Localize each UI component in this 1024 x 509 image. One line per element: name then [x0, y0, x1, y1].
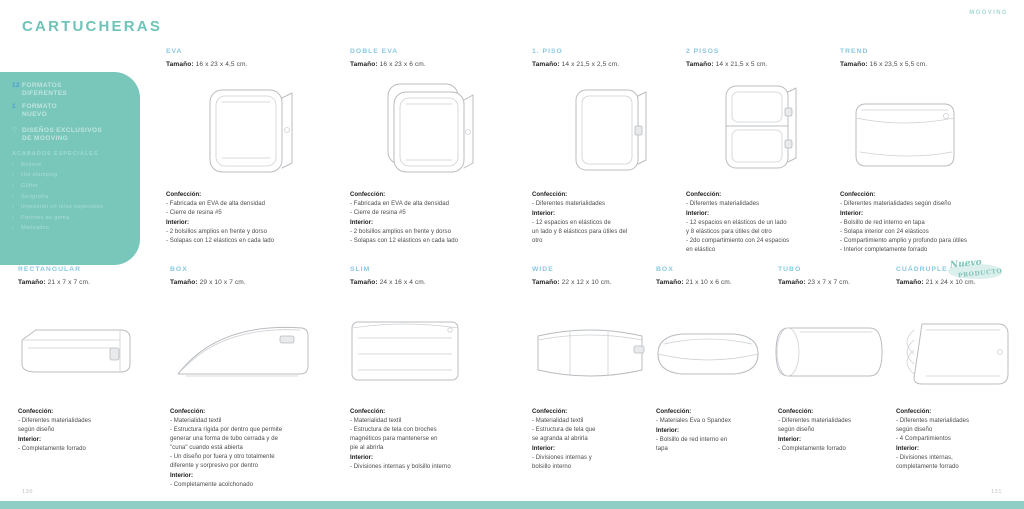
- confeccion-line: - Estructura rígida por dentro que permi…: [170, 426, 342, 435]
- interior-line: - Divisiones internas,: [896, 454, 1018, 463]
- confeccion-label: Confección:: [350, 191, 385, 198]
- page-number-left: 130: [22, 489, 33, 495]
- confeccion-line: - Estructura de tela que: [532, 426, 650, 435]
- size-label: Tamaño:: [170, 279, 198, 286]
- bullet-icon: ›: [12, 225, 21, 231]
- confeccion-line: según diseño: [778, 426, 896, 435]
- product-description-trend: Confección: - Diferentes materialidades …: [840, 190, 1020, 255]
- catalog-page: CARTUCHERAS MOOVING 12 FORMATOSDIFERENTE…: [0, 0, 1024, 509]
- confeccion-line: - Diferentes materialidades: [896, 417, 1018, 426]
- product-description-1-piso: Confección: - Diferentes materialidades …: [532, 190, 682, 246]
- product-image-eva: [196, 84, 306, 184]
- confeccion-line: - Materialidad textil: [350, 417, 515, 426]
- size-value: 29 x 10 x 7 cm.: [200, 279, 246, 286]
- interior-line: - Solapas con 12 elásticos en cada lado: [350, 237, 530, 246]
- product-description-tubo: Confección: - Diferentes materialidades …: [778, 407, 896, 454]
- size-label: Tamaño:: [778, 279, 806, 286]
- confeccion-line: - Fabricada en EVA de alta densidad: [166, 200, 346, 209]
- product-name: WIDE: [532, 266, 612, 273]
- feature-count-formatos: 12: [12, 82, 22, 90]
- accessories-title: ACABADOS ESPECIALES: [12, 151, 130, 157]
- product-size: Tamaño: 14 x 21,5 x 5 cm.: [686, 61, 768, 68]
- interior-line: - Bolsillo de red interno en: [656, 436, 774, 445]
- footer-bar: [0, 501, 1024, 509]
- product-size: Tamaño: 16 x 23,5 x 5,5 cm.: [840, 61, 927, 68]
- interior-line: - Bolsillo de red interno en tapa: [840, 219, 1020, 228]
- bullet-icon: ›: [12, 204, 21, 210]
- product-image-tubo: [770, 322, 888, 384]
- feature-highlight-formatos: 12 FORMATOSDIFERENTES: [12, 82, 130, 98]
- feature-text-formatos: FORMATOSDIFERENTES: [22, 82, 67, 98]
- size-label: Tamaño:: [350, 279, 378, 286]
- size-value: 16 x 23,5 x 5,5 cm.: [870, 61, 928, 68]
- confeccion-label: Confección:: [532, 191, 567, 198]
- product-image-2-pisos: [712, 82, 820, 182]
- confeccion-label: Confección:: [350, 408, 385, 415]
- accessory-item: ›Relieve: [12, 162, 130, 168]
- confeccion-line: pie al abrirla: [350, 444, 515, 453]
- size-value: 14 x 21,5 x 5 cm.: [716, 61, 768, 68]
- accessory-item: ›Glitter: [12, 183, 130, 189]
- size-value: 23 x 7 x 7 cm.: [808, 279, 850, 286]
- product-size: Tamaño: 16 x 23 x 4,5 cm.: [166, 61, 248, 68]
- product-name: TREND: [840, 48, 927, 55]
- interior-line: - Solapas con 12 elásticos en cada lado: [166, 237, 346, 246]
- interior-line: - 2 bolsillos amplios en frente y dorso: [350, 228, 530, 237]
- confeccion-label: Confección:: [686, 191, 721, 198]
- interior-line: - 2do compartimiento con 24 espacios: [686, 237, 838, 246]
- accessory-label: Relieve: [21, 162, 42, 168]
- product-size: Tamaño: 21 x 7 x 7 cm.: [18, 279, 90, 286]
- interior-label: Interior:: [896, 445, 919, 452]
- product-description-box-2: Confección: - Materiales Eva o Spandex I…: [656, 407, 774, 454]
- confeccion-line: - Materialidad textil: [532, 417, 650, 426]
- size-value: 21 x 7 x 7 cm.: [48, 279, 90, 286]
- accessory-label: Matizados: [21, 225, 49, 231]
- accessory-item: ›Impresión en telas especiales: [12, 204, 130, 210]
- interior-label: Interior:: [532, 445, 555, 452]
- product-description-cuadruple: Confección: - Diferentes materialidades …: [896, 407, 1018, 472]
- product-description-2-pisos: Confección: - Diferentes materialidades …: [686, 190, 838, 255]
- product-description-eva: Confección: - Fabricada en EVA de alta d…: [166, 190, 346, 246]
- product-image-box-2: [650, 326, 766, 382]
- interior-label: Interior:: [18, 436, 41, 443]
- accessory-label: Hot stamping: [21, 172, 58, 178]
- interior-line: - 12 espacios en elásticos de un lado: [686, 219, 838, 228]
- bullet-icon: ›: [12, 183, 21, 189]
- bullet-icon: ›: [12, 215, 21, 221]
- interior-line: - Solapa interior con 24 elásticos: [840, 228, 1020, 237]
- product-description-wide: Confección: - Materialidad textil - Estr…: [532, 407, 650, 472]
- size-label: Tamaño:: [532, 61, 560, 68]
- confeccion-label: Confección:: [170, 408, 205, 415]
- product-size: Tamaño: 16 x 23 x 6 cm.: [350, 61, 426, 68]
- interior-label: Interior:: [686, 210, 709, 217]
- size-label: Tamaño:: [18, 279, 46, 286]
- brand-logo: MOOVING: [969, 10, 1008, 16]
- confeccion-line: - Diferentes materialidades según diseño: [840, 200, 1020, 209]
- interior-line: - Divisiones internas y bolsillo interno: [350, 463, 515, 472]
- size-label: Tamaño:: [896, 279, 924, 286]
- confeccion-label: Confección:: [18, 408, 53, 415]
- size-value: 24 x 16 x 4 cm.: [380, 279, 426, 286]
- interior-label: Interior:: [656, 427, 679, 434]
- interior-line: un lado y 8 elásticos para útiles del: [532, 228, 682, 237]
- interior-line: - 2 bolsillos amplios en frente y dorso: [166, 228, 346, 237]
- accessory-label: Impresión en telas especiales: [21, 204, 103, 210]
- confeccion-label: Confección:: [656, 408, 691, 415]
- interior-line: - Completamente acolchonado: [170, 481, 342, 490]
- product-heading-doble-eva: DOBLE EVA Tamaño: 16 x 23 x 6 cm.: [350, 48, 426, 68]
- page-title: CARTUCHERAS: [22, 18, 162, 35]
- product-name: 1. PISO: [532, 48, 619, 55]
- product-heading-wide: WIDE Tamaño: 22 x 12 x 10 cm.: [532, 266, 612, 286]
- product-name: BOX: [170, 266, 246, 273]
- product-image-slim: [346, 316, 466, 388]
- confeccion-line: - Diferentes materialidades: [686, 200, 838, 209]
- interior-line: completamente forrado: [896, 463, 1018, 472]
- confeccion-line: según diseño: [18, 426, 148, 435]
- size-value: 16 x 23 x 4,5 cm.: [196, 61, 248, 68]
- accessory-item: ›Parches de goma: [12, 215, 130, 221]
- interior-line: en elástico: [686, 246, 838, 255]
- interior-label: Interior:: [166, 219, 189, 226]
- product-description-box-1: Confección: - Materialidad textil - Estr…: [170, 407, 342, 490]
- bullet-icon: ›: [12, 194, 21, 200]
- feature-text-nuevo: FORMATONUEVO: [22, 103, 57, 119]
- confeccion-label: Confección:: [840, 191, 875, 198]
- product-image-wide: [530, 320, 650, 386]
- confeccion-line: diferente y sorpresivo por dentro: [170, 462, 342, 471]
- bullet-icon: ›: [12, 172, 21, 178]
- product-name: DOBLE EVA: [350, 48, 426, 55]
- confeccion-line: - Fabricada en EVA de alta densidad: [350, 200, 530, 209]
- product-name: 2 PISOS: [686, 48, 768, 55]
- product-image-trend: [846, 92, 966, 178]
- confeccion-line: - Un diseño por fuera y otro totalmente: [170, 453, 342, 462]
- product-heading-trend: TREND Tamaño: 16 x 23,5 x 5,5 cm.: [840, 48, 927, 68]
- product-description-doble-eva: Confección: - Fabricada en EVA de alta d…: [350, 190, 530, 246]
- confeccion-label: Confección:: [166, 191, 201, 198]
- interior-line: bolsillo interno: [532, 463, 650, 472]
- product-name: BOX: [656, 266, 732, 273]
- accessory-label: Parches de goma: [21, 215, 69, 221]
- product-description-slim: Confección: - Materialidad textil - Estr…: [350, 407, 515, 472]
- page-number-right: 131: [991, 489, 1002, 495]
- confeccion-line: generar una forma de tubo cerrada y de: [170, 435, 342, 444]
- size-value: 14 x 21,5 x 2,5 cm.: [562, 61, 620, 68]
- size-label: Tamaño:: [166, 61, 194, 68]
- confeccion-line: - 4 Compartimientos: [896, 435, 1018, 444]
- product-image-1-piso: [560, 86, 665, 182]
- confeccion-line: - Cierre de resina #5: [350, 209, 530, 218]
- location-pin-icon: ⚲: [12, 127, 22, 136]
- product-image-cuadruple: [892, 314, 1016, 392]
- confeccion-line: según diseño: [896, 426, 1018, 435]
- accessory-item: ›Serigrafía: [12, 194, 130, 200]
- product-image-rectangular: [14, 318, 144, 388]
- product-image-box-1: [172, 318, 312, 388]
- interior-label: Interior:: [350, 219, 373, 226]
- interior-label: Interior:: [532, 210, 555, 217]
- product-heading-1-piso: 1. PISO Tamaño: 14 x 21,5 x 2,5 cm.: [532, 48, 619, 68]
- new-product-badge: Nuevo PRODUCTO: [944, 258, 1006, 282]
- interior-label: Interior:: [350, 454, 373, 461]
- product-size: Tamaño: 23 x 7 x 7 cm.: [778, 279, 850, 286]
- feature-highlight-disenos: ⚲ DISEÑOS EXCLUSIVOSDE MOOVING: [12, 127, 130, 143]
- product-size: Tamaño: 21 x 10 x 6 cm.: [656, 279, 732, 286]
- interior-line: - Completamente forrado: [778, 445, 896, 454]
- size-label: Tamaño:: [656, 279, 684, 286]
- confeccion-line: - Diferentes materialidades: [778, 417, 896, 426]
- product-size: Tamaño: 29 x 10 x 7 cm.: [170, 279, 246, 286]
- confeccion-line: "cuna" cuando está abierta: [170, 444, 342, 453]
- accessory-label: Serigrafía: [21, 194, 48, 200]
- product-heading-rectangular: RECTANGULAR Tamaño: 21 x 7 x 7 cm.: [18, 266, 90, 286]
- product-size: Tamaño: 14 x 21,5 x 2,5 cm.: [532, 61, 619, 68]
- feature-panel: 12 FORMATOSDIFERENTES 1 FORMATONUEVO ⚲ D…: [0, 72, 140, 265]
- feature-text-disenos: DISEÑOS EXCLUSIVOSDE MOOVING: [22, 127, 102, 143]
- size-value: 21 x 10 x 6 cm.: [686, 279, 732, 286]
- size-label: Tamaño:: [532, 279, 560, 286]
- confeccion-line: - Estructura de tela con broches: [350, 426, 515, 435]
- product-name: SLIM: [350, 266, 426, 273]
- size-label: Tamaño:: [686, 61, 714, 68]
- accessory-label: Glitter: [21, 183, 38, 189]
- interior-line: - Compartimiento amplio y profundo para …: [840, 237, 1020, 246]
- feature-highlight-nuevo: 1 FORMATONUEVO: [12, 103, 130, 119]
- interior-line: - 12 espacios en elásticos de: [532, 219, 682, 228]
- interior-line: otro: [532, 237, 682, 246]
- interior-line: - Divisiones internas y: [532, 454, 650, 463]
- confeccion-label: Confección:: [896, 408, 931, 415]
- product-size: Tamaño: 22 x 12 x 10 cm.: [532, 279, 612, 286]
- product-name: TUBO: [778, 266, 850, 273]
- product-size: Tamaño: 24 x 16 x 4 cm.: [350, 279, 426, 286]
- product-heading-tubo: TUBO Tamaño: 23 x 7 x 7 cm.: [778, 266, 850, 286]
- product-image-doble-eva: [378, 80, 498, 185]
- confeccion-line: - Materiales Eva o Spandex: [656, 417, 774, 426]
- size-label: Tamaño:: [840, 61, 868, 68]
- confeccion-label: Confección:: [778, 408, 813, 415]
- product-heading-eva: EVA Tamaño: 16 x 23 x 4,5 cm.: [166, 48, 248, 68]
- interior-line: - Completamente forrado: [18, 445, 148, 454]
- accessory-item: ›Hot stamping: [12, 172, 130, 178]
- feature-count-nuevo: 1: [12, 103, 22, 111]
- confeccion-line: magnéticos para mantenerse en: [350, 435, 515, 444]
- size-value: 22 x 12 x 10 cm.: [562, 279, 612, 286]
- interior-line: tapa: [656, 445, 774, 454]
- interior-label: Interior:: [778, 436, 801, 443]
- product-description-rectangular: Confección: - Diferentes materialidades …: [18, 407, 148, 454]
- confeccion-line: - Materialidad textil: [170, 417, 342, 426]
- confeccion-label: Confección:: [532, 408, 567, 415]
- confeccion-line: - Diferentes materialidades: [532, 200, 682, 209]
- product-heading-2-pisos: 2 PISOS Tamaño: 14 x 21,5 x 5 cm.: [686, 48, 768, 68]
- product-heading-slim: SLIM Tamaño: 24 x 16 x 4 cm.: [350, 266, 426, 286]
- product-name: EVA: [166, 48, 248, 55]
- interior-label: Interior:: [840, 210, 863, 217]
- size-label: Tamaño:: [350, 61, 378, 68]
- interior-label: Interior:: [170, 472, 193, 479]
- confeccion-line: - Cierre de resina #5: [166, 209, 346, 218]
- interior-line: y 8 elásticos para útiles del otro: [686, 228, 838, 237]
- interior-line: - Interior completamente forrado: [840, 246, 1020, 255]
- product-heading-box-2: BOX Tamaño: 21 x 10 x 6 cm.: [656, 266, 732, 286]
- size-value: 16 x 23 x 6 cm.: [380, 61, 426, 68]
- confeccion-line: - Diferentes materialidades: [18, 417, 148, 426]
- accessory-item: ›Matizados: [12, 225, 130, 231]
- product-heading-box-1: BOX Tamaño: 29 x 10 x 7 cm.: [170, 266, 246, 286]
- confeccion-line: se agranda al abrirla: [532, 435, 650, 444]
- product-name: RECTANGULAR: [18, 266, 90, 273]
- bullet-icon: ›: [12, 162, 21, 168]
